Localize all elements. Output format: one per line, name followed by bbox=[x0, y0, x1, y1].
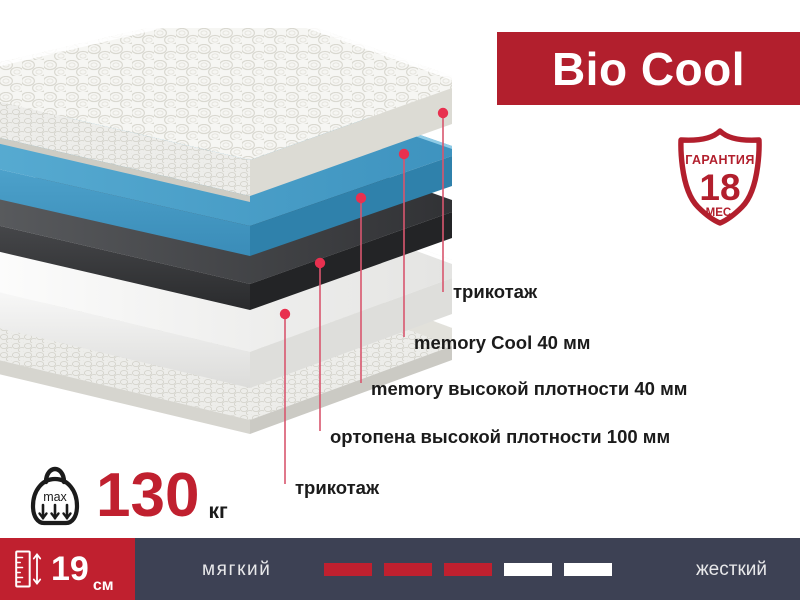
firmness-scale bbox=[324, 563, 612, 576]
bottom-bar: 19 см мягкий жесткий bbox=[0, 538, 800, 600]
mattress-layers-illustration bbox=[0, 28, 500, 468]
kettlebell-icon: max bbox=[28, 465, 82, 527]
layer-label-memory-hd: memory высокой плотности 40 мм bbox=[371, 380, 687, 399]
layer-label-memory-cool: memory Cool 40 мм bbox=[414, 334, 590, 353]
firmness-soft-label: мягкий bbox=[202, 560, 271, 579]
layer-label-ortopena: ортопена высокой плотности 100 мм bbox=[330, 428, 670, 447]
firmness-segment-5 bbox=[564, 563, 612, 576]
product-title-banner: Bio Cool bbox=[497, 32, 800, 105]
layer-label-knit-bottom: трикотаж bbox=[295, 479, 379, 498]
firmness-segment-1 bbox=[324, 563, 372, 576]
max-weight-value: 130 bbox=[96, 465, 199, 527]
kettlebell-max-text: max bbox=[43, 490, 67, 504]
max-weight-group: max 130 кг bbox=[28, 460, 228, 532]
height-unit: см bbox=[93, 577, 114, 595]
warranty-top-text: ГАРАНТИЯ bbox=[685, 153, 754, 167]
firmness-segment-4 bbox=[504, 563, 552, 576]
warranty-number: 18 bbox=[699, 167, 740, 208]
warranty-bottom-text: МЕС. bbox=[706, 207, 735, 219]
height-value: 19 bbox=[51, 552, 89, 586]
ruler-icon bbox=[14, 549, 44, 589]
warranty-badge: ГАРАНТИЯ 18 МЕС. bbox=[672, 128, 768, 226]
firmness-hard-label: жесткий bbox=[696, 560, 767, 579]
product-title: Bio Cool bbox=[552, 46, 745, 92]
firmness-segment-3 bbox=[444, 563, 492, 576]
height-block: 19 см bbox=[0, 538, 135, 600]
firmness-block: мягкий жесткий bbox=[135, 538, 800, 600]
max-weight-unit: кг bbox=[208, 500, 227, 524]
product-infographic: трикотаж memory Cool 40 мм memory высоко… bbox=[0, 0, 800, 600]
firmness-segment-2 bbox=[384, 563, 432, 576]
layer-label-knit-top: трикотаж bbox=[453, 283, 537, 302]
